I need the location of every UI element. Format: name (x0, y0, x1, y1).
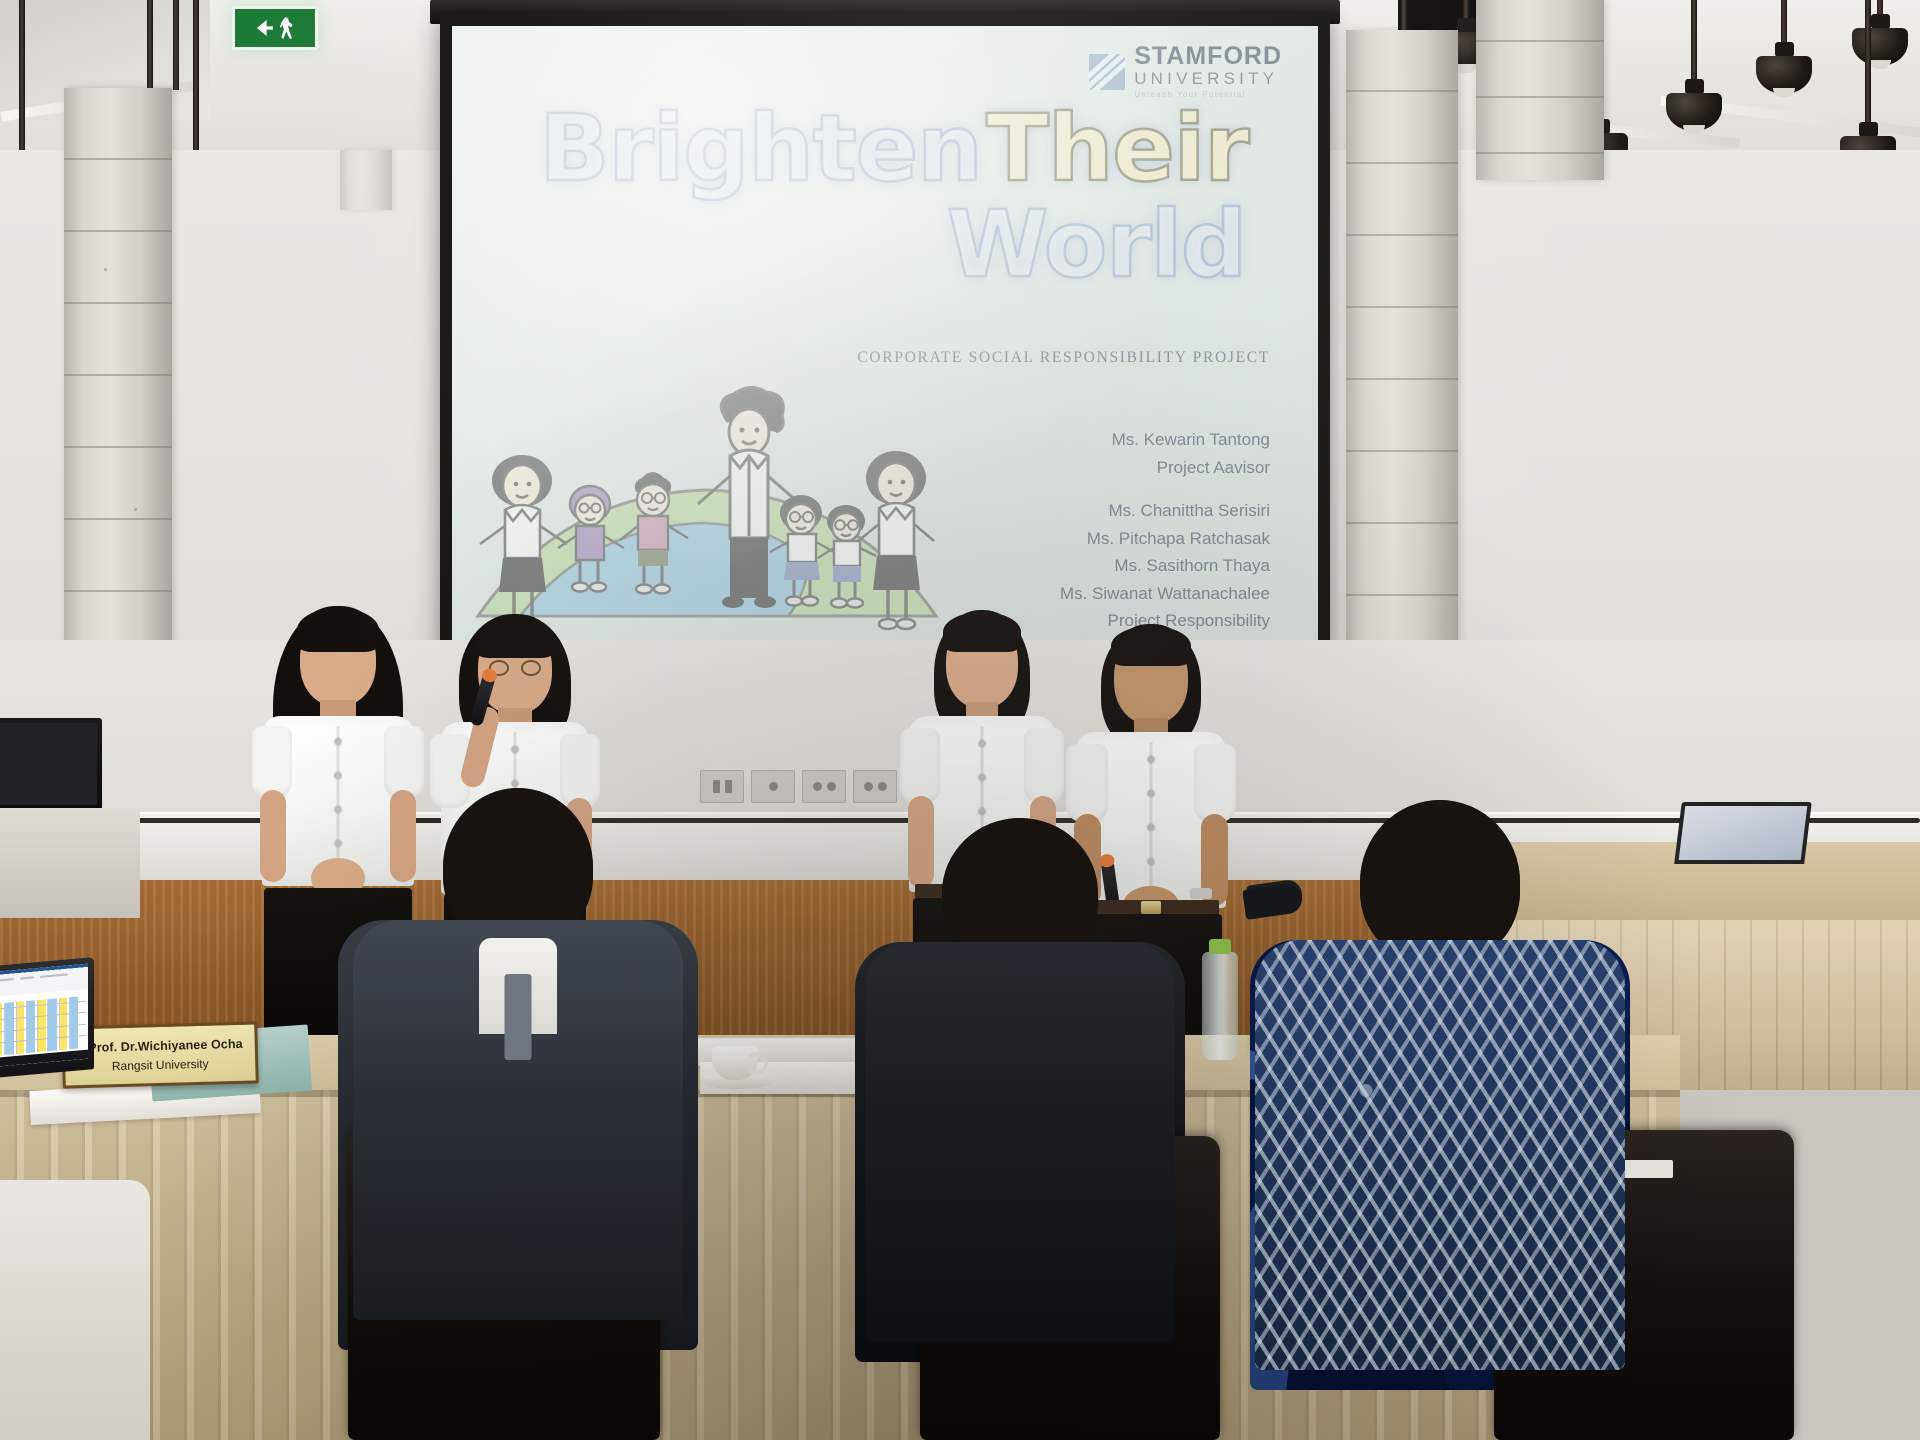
judge-2-front (840, 818, 1200, 1358)
coffee-cup[interactable] (712, 1046, 758, 1080)
wall-socket[interactable] (751, 770, 795, 803)
team-member-2: Ms. Pitchapa Ratchasak (1060, 525, 1270, 553)
team-member-1: Ms. Chanittha Serisiri (1060, 497, 1270, 525)
laptop-back-right[interactable] (1674, 802, 1812, 864)
concrete-pillar-4 (1476, 0, 1604, 180)
judge-3-front (1240, 800, 1640, 1380)
wall-socket[interactable] (853, 770, 897, 803)
stamford-swirl-logo-icon (1089, 54, 1125, 90)
presentation-room-photo: STAMFORD UNIVERSITY Unleash Your Potenti… (0, 0, 1920, 1440)
wall-socket[interactable] (802, 770, 846, 803)
team-member-4: Ms. Siwanat Wattanachalee (1060, 580, 1270, 608)
side-monitor (0, 718, 102, 810)
slide-subtitle: CORPORATE SOCIAL RESPONSIBILITY PROJECT (452, 349, 1318, 367)
slide-title: Brighten Their World (452, 104, 1318, 290)
judge-1-front (318, 788, 718, 1348)
stamford-university-logo: STAMFORD UNIVERSITY Unleash Your Potenti… (1089, 44, 1282, 99)
exit-arrow-icon (257, 20, 273, 36)
team-member-3: Ms. Sasithorn Thaya (1060, 552, 1270, 580)
concrete-pillar-2 (340, 150, 392, 210)
concrete-pillar-3 (1346, 30, 1458, 690)
nameplate-line2: Rangsit University (112, 1056, 209, 1073)
title-word-world: World (947, 191, 1246, 298)
judge-3-glasses (1242, 882, 1304, 920)
exit-running-person-icon (280, 17, 293, 39)
brand-name-line1: STAMFORD (1134, 44, 1282, 69)
brand-name-line2: UNIVERSITY (1134, 70, 1282, 87)
projected-slide: STAMFORD UNIVERSITY Unleash Your Potenti… (452, 26, 1318, 666)
nameplate-line1: t. Prof. Dr.Wichiyanee Ocha (77, 1036, 243, 1054)
exit-sign (232, 6, 318, 50)
judge-3-batik-pattern (1255, 940, 1625, 1370)
advisor-name: Ms. Kewarin Tantong (1060, 426, 1270, 454)
laptop-left[interactable] (0, 957, 94, 1079)
side-cabinet (0, 808, 140, 918)
water-bottle[interactable] (1202, 952, 1238, 1060)
title-word-brighten: Brighten (539, 95, 981, 202)
title-word-their: Their (986, 95, 1249, 202)
brand-tagline: Unleash Your Potential (1134, 91, 1282, 99)
advisor-role: Project Aavisor (1060, 454, 1270, 482)
judge-left-offscreen (0, 1180, 150, 1440)
judge-1-tie (505, 974, 532, 1060)
wall-socket-group (700, 770, 897, 803)
slide-credits: Ms. Kewarin Tantong Project Aavisor Ms. … (1060, 426, 1270, 651)
